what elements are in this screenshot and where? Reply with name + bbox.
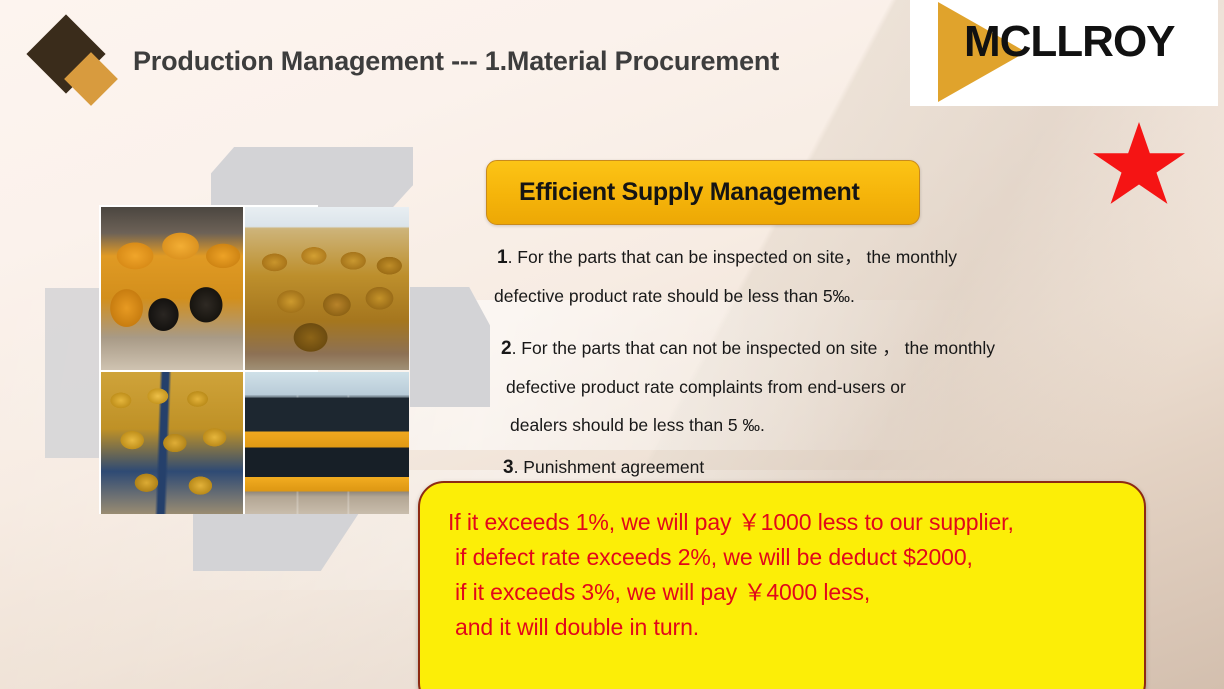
- collage-photo-rows-of-gold-gearboxes: [245, 207, 409, 370]
- presentation-slide: Production Management --- 1.Material Pro…: [0, 0, 1224, 689]
- grey-decor-shape-top-right: [316, 147, 413, 215]
- punishment-callout-line-1: If it exceeds 1%, we will pay ￥1000 less…: [448, 505, 1144, 540]
- collage-photo-crated-operator-cabins: [245, 372, 409, 514]
- grey-decor-shape-right: [410, 287, 490, 407]
- grey-decor-shape-left: [45, 288, 103, 458]
- body-text-list: 1. For the parts that can be inspected o…: [497, 238, 1157, 487]
- supply-management-banner: Efficient Supply Management: [486, 160, 920, 225]
- body-item-2-line2: defective product rate complaints from e…: [506, 368, 1157, 406]
- punishment-callout-line-4: and it will double in turn.: [455, 610, 1144, 645]
- diamond-logo-icon: [34, 24, 122, 112]
- body-item-1-line1: . For the parts that can be inspected on…: [508, 247, 957, 267]
- body-item-2: 2. For the parts that can not be inspect…: [501, 329, 1157, 444]
- brand-logo-panel: MCLLROY: [910, 0, 1218, 106]
- punishment-callout-line-2: if defect rate exceeds 2%, we will be de…: [455, 540, 1144, 575]
- body-item-1-line2: defective product rate should be less th…: [494, 277, 1157, 315]
- grey-decor-shape-bottom: [193, 513, 359, 571]
- red-star-icon: [1093, 122, 1185, 210]
- body-item-1: 1. For the parts that can be inspected o…: [497, 238, 1157, 315]
- supply-management-banner-label: Efficient Supply Management: [519, 178, 860, 207]
- body-item-2-line1: . For the parts that can not be inspecte…: [512, 338, 995, 358]
- body-item-1-number: 1: [497, 247, 508, 268]
- body-item-2-number: 2: [501, 338, 512, 359]
- page-title: Production Management --- 1.Material Pro…: [133, 46, 779, 77]
- collage-photo-stacked-yellow-rollers: [101, 372, 243, 514]
- punishment-callout-box: If it exceeds 1%, we will pay ￥1000 less…: [418, 481, 1146, 689]
- collage-photo-orange-engine-blocks: [101, 207, 243, 370]
- body-item-2-line3: dealers should be less than 5 ‰.: [510, 406, 1157, 444]
- brand-wordmark: MCLLROY: [964, 17, 1175, 67]
- body-item-3-number: 3: [503, 457, 514, 478]
- punishment-callout-line-3: if it exceeds 3%, we will pay ￥4000 less…: [455, 575, 1144, 610]
- body-item-3-line1: . Punishment agreement: [514, 457, 705, 477]
